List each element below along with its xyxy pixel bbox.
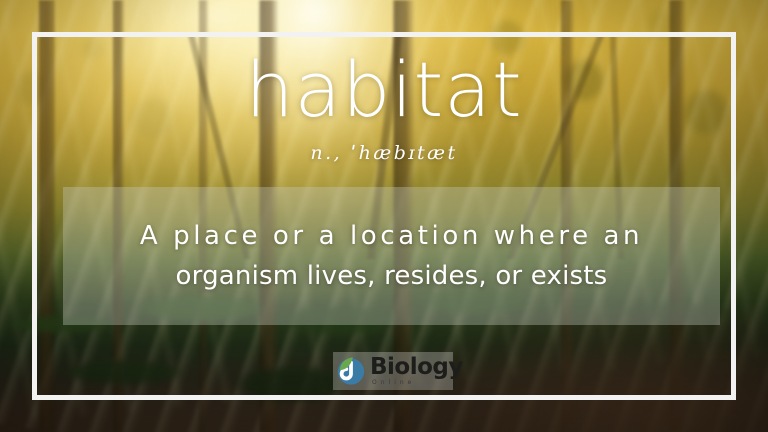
logo-wordmark: Biology Online — [370, 356, 463, 386]
biology-online-logo[interactable]: Biology Online — [333, 352, 453, 390]
logo-subtitle: Online — [372, 380, 463, 386]
logo-title: Biology — [370, 356, 463, 379]
definition-text: A place or a location where an organism … — [63, 187, 720, 325]
biology-online-leaf-mark — [336, 356, 366, 386]
page-title: habitat — [0, 52, 768, 128]
habitat-definition-card: habitat n., ˈhæbɪtæt A place or a locati… — [0, 0, 768, 432]
definition-line-1: A place or a location where an — [140, 216, 643, 256]
definition-line-2: organism lives, resides, or exists — [176, 256, 608, 296]
pronunciation-text: n., ˈhæbɪtæt — [0, 142, 768, 164]
